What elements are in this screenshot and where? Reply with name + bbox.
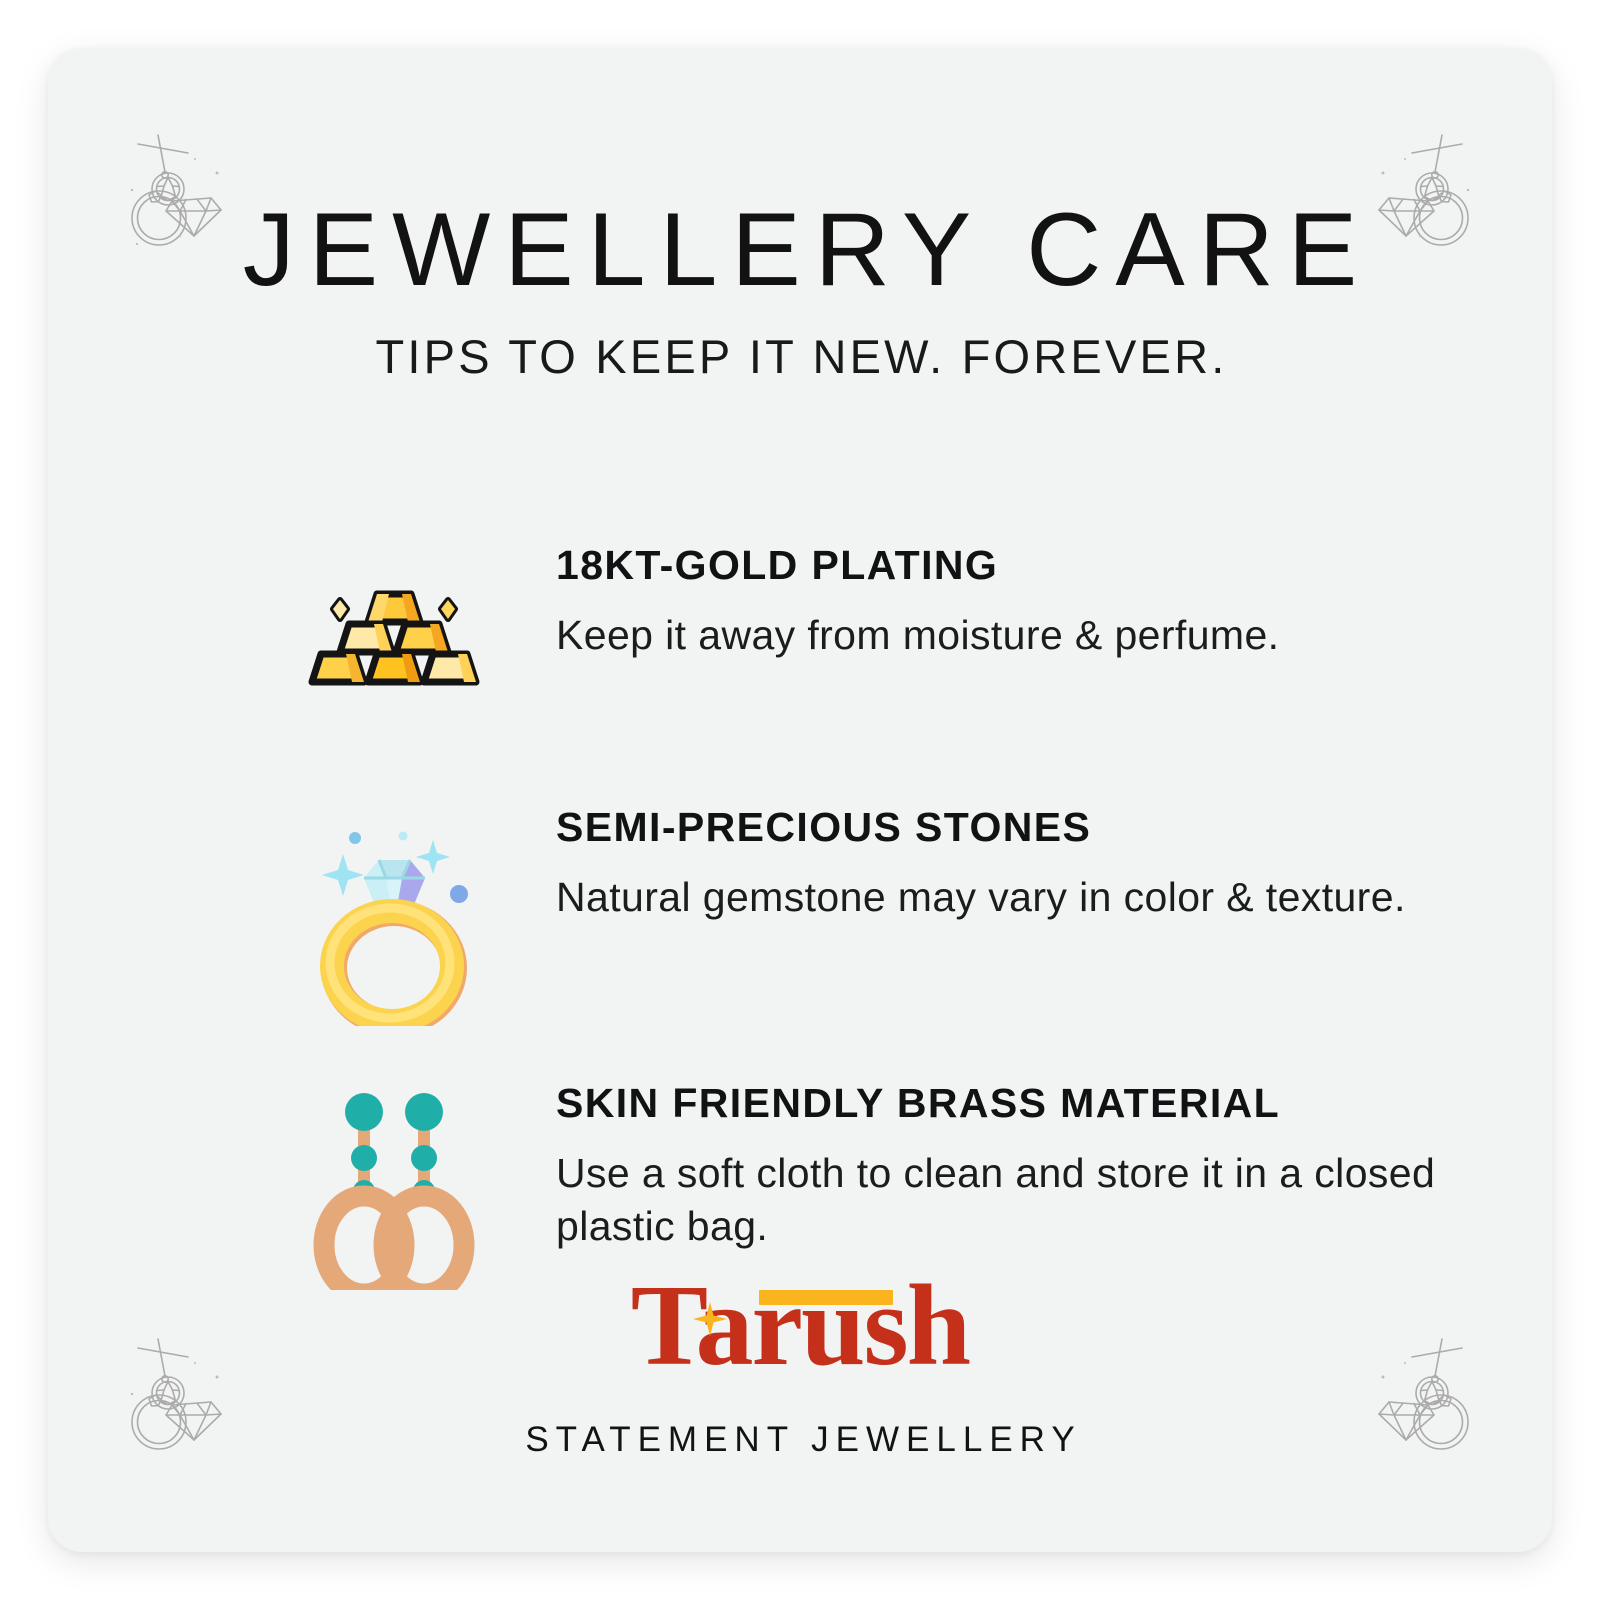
diamond-ring-icon (307, 816, 482, 1026)
tip-item-gold-plating: 18KT-GOLD PLATING Keep it away from mois… (294, 544, 1514, 806)
gold-bars-icon (299, 572, 489, 700)
tip-body: Use a soft cloth to clean and store it i… (556, 1147, 1514, 1252)
header-block: JEWELLERY CARE TIPS TO KEEP IT NEW. FORE… (48, 196, 1552, 384)
brand-logo-text: Tarush (631, 1262, 969, 1390)
tip-icon-slot (294, 1082, 494, 1290)
tip-text-block: SEMI-PRECIOUS STONES Natural gemstone ma… (494, 806, 1514, 924)
tip-heading: 18KT-GOLD PLATING (556, 544, 1514, 587)
screenshot-stage: JEWELLERY CARE TIPS TO KEEP IT NEW. FORE… (0, 0, 1600, 1600)
page-subtitle: TIPS TO KEEP IT NEW. FOREVER. (48, 329, 1552, 384)
tip-heading: SEMI-PRECIOUS STONES (556, 806, 1514, 849)
tip-body: Natural gemstone may vary in color & tex… (556, 871, 1514, 923)
tip-text-block: SKIN FRIENDLY BRASS MATERIAL Use a soft … (494, 1082, 1514, 1252)
logo-gold-bar-icon (759, 1290, 893, 1305)
drop-earrings-icon (310, 1090, 478, 1290)
tip-heading: SKIN FRIENDLY BRASS MATERIAL (556, 1082, 1514, 1125)
footer-block: Tarush STATEMENT JEWELLERY (48, 1268, 1552, 1460)
care-card: JEWELLERY CARE TIPS TO KEEP IT NEW. FORE… (48, 48, 1552, 1552)
brand-tagline: STATEMENT JEWELLERY (48, 1420, 1552, 1460)
tip-icon-slot (294, 806, 494, 1026)
tips-list: 18KT-GOLD PLATING Keep it away from mois… (294, 544, 1514, 1302)
brand-logo: Tarush (631, 1268, 969, 1386)
tip-body: Keep it away from moisture & perfume. (556, 609, 1514, 661)
logo-sparkle-icon (693, 1302, 727, 1336)
tip-text-block: 18KT-GOLD PLATING Keep it away from mois… (494, 544, 1514, 662)
page-title: JEWELLERY CARE (48, 196, 1552, 305)
tip-icon-slot (294, 544, 494, 700)
tip-item-semi-precious-stones: SEMI-PRECIOUS STONES Natural gemstone ma… (294, 806, 1514, 1082)
